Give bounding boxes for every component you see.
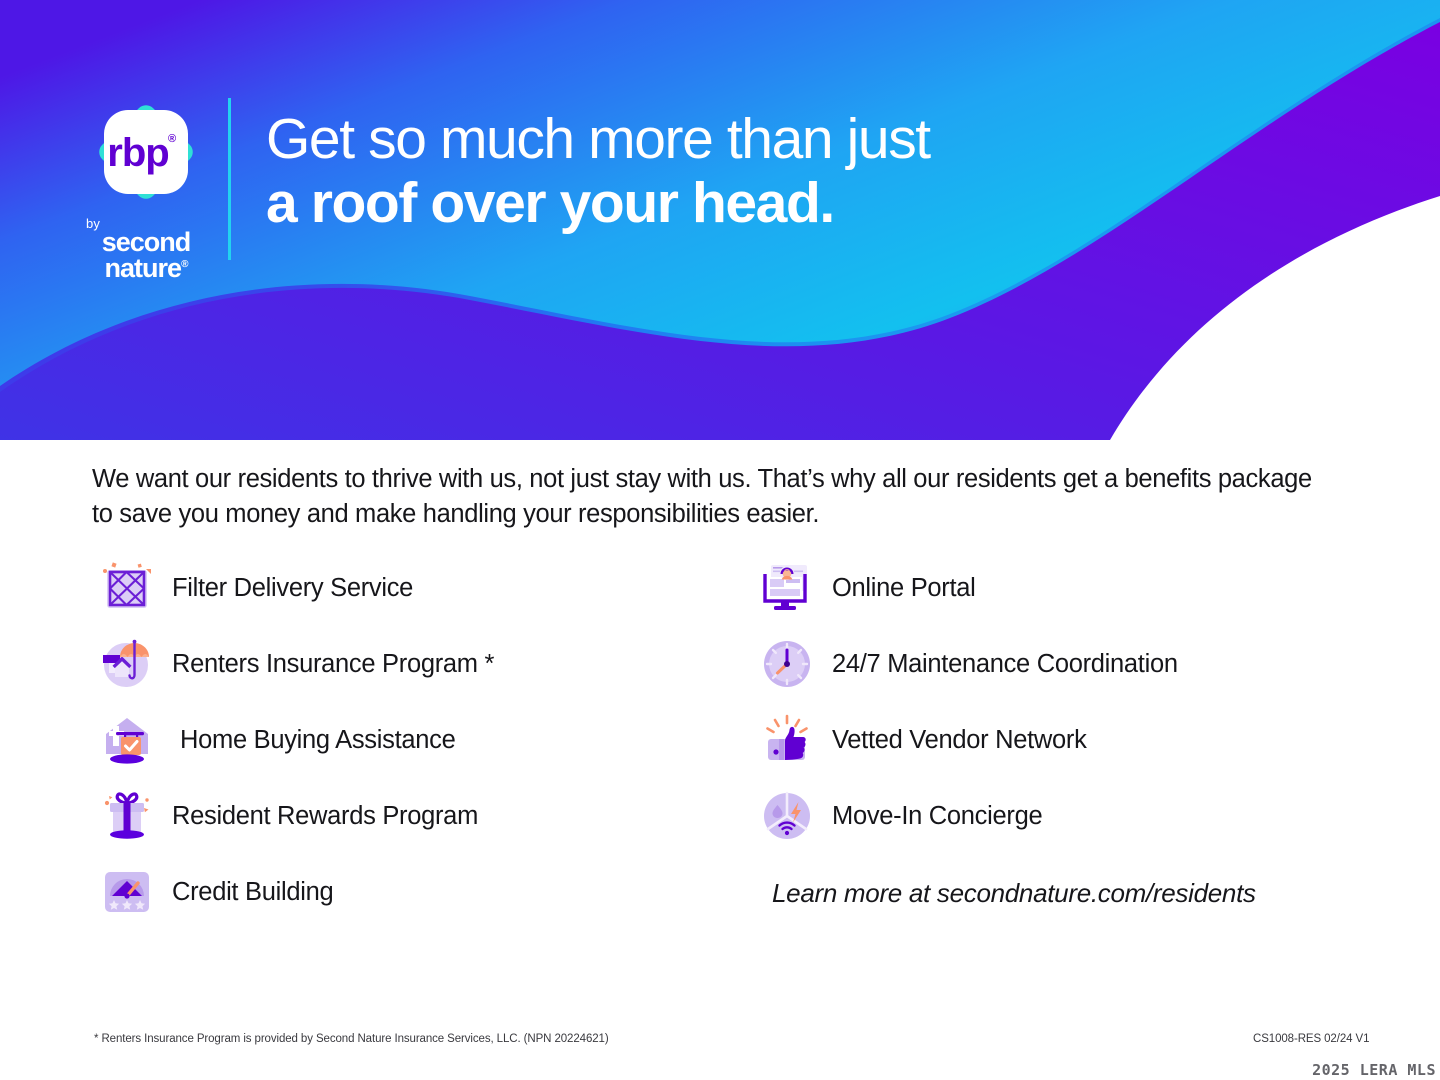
benefit-label: Move-In Concierge [832, 802, 1042, 831]
rbp-badge-icon: rbp ® [88, 98, 204, 210]
footnote-disclaimer: * Renters Insurance Program is provided … [94, 1033, 609, 1045]
benefit-item-online-portal: Online Portal [756, 558, 1396, 618]
rbp-logo: rbp ® by second nature® [82, 98, 210, 263]
svg-text:rbp: rbp [107, 131, 168, 175]
utilities-circle-icon [756, 786, 818, 846]
benefit-item-maintenance: 24/7 Maintenance Coordination [756, 634, 1396, 694]
logo-second-label: second [82, 229, 210, 255]
benefit-label: Online Portal [832, 574, 976, 603]
benefit-label: Renters Insurance Program * [172, 650, 494, 679]
benefit-label: 24/7 Maintenance Coordination [832, 650, 1178, 679]
headline-line-1: Get so much more than just [266, 108, 930, 172]
benefit-item-move-in-concierge: Move-In Concierge [756, 786, 1396, 846]
clock-icon [756, 634, 818, 694]
intro-paragraph: We want our residents to thrive with us,… [92, 462, 1322, 531]
headline-line-2: a roof over your head. [266, 172, 930, 236]
benefit-item-vetted-vendor: Vetted Vendor Network [756, 710, 1396, 770]
benefits-column-right: Online Portal [756, 558, 1396, 862]
benefit-label: Vetted Vendor Network [832, 726, 1087, 755]
benefit-item-renters-insurance: Renters Insurance Program * [96, 634, 716, 694]
rbp-logo-wordmark: by second nature® [82, 218, 210, 282]
benefit-label: Filter Delivery Service [172, 574, 413, 603]
benefits-column-left: Filter Delivery Service [96, 558, 716, 938]
house-checklist-icon [96, 710, 158, 770]
hero-headline: Get so much more than just a roof over y… [266, 108, 930, 236]
benefit-label: Home Buying Assistance [180, 726, 455, 755]
air-filter-icon [96, 558, 158, 618]
logo-nature-label: nature® [82, 255, 210, 281]
watermark-label: 2025 LERA MLS [1312, 1061, 1436, 1079]
learn-more-text[interactable]: Learn more at secondnature.com/residents [772, 878, 1256, 909]
umbrella-house-icon [96, 634, 158, 694]
benefit-label: Credit Building [172, 878, 333, 907]
rbp-logo-mark: rbp ® [88, 98, 204, 210]
document-code: CS1008-RES 02/24 V1 [1253, 1033, 1369, 1045]
benefit-item-home-buying: Home Buying Assistance [96, 710, 716, 770]
flyer-page: rbp ® by second nature® Get so much more… [0, 0, 1440, 1080]
benefit-item-filter-delivery: Filter Delivery Service [96, 558, 716, 618]
credit-gauge-stars-icon [96, 862, 158, 922]
thumbs-up-icon [756, 710, 818, 770]
benefit-label: Resident Rewards Program [172, 802, 478, 831]
benefit-item-credit-building: Credit Building [96, 862, 716, 922]
gift-box-icon [96, 786, 158, 846]
benefit-item-resident-rewards: Resident Rewards Program [96, 786, 716, 846]
svg-text:®: ® [168, 133, 176, 145]
header-divider [228, 98, 231, 260]
desktop-monitor-icon [756, 558, 818, 618]
